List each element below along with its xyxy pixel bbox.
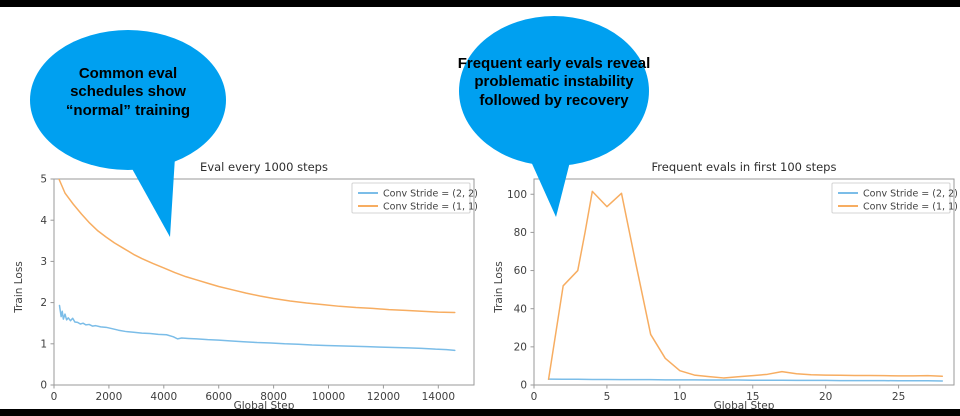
plot-left-xtick: 0 [51,391,58,403]
plot-left-legend[interactable]: Conv Stride = (2, 2)Conv Stride = (1, 1) [352,183,478,213]
plot-left-xtick: 8000 [260,391,287,403]
plot-left-ytick: 2 [40,297,47,309]
plot-right-xtick: 5 [604,391,611,403]
plot-right-xtick: 10 [673,391,686,403]
plot-right-ytick: 0 [520,380,527,392]
plot-right-ytick: 100 [507,189,527,201]
chart-panel-right: Frequent evals in first 100 steps Train … [488,157,960,415]
callout-text-right: Frequent early evals reveal problematic … [452,55,656,110]
plot-left-xtick: 10000 [312,391,345,403]
plot-left-xtick: 6000 [205,391,232,403]
plot-left-xtick: 14000 [422,391,455,403]
plot-left-ytick: 3 [40,256,47,268]
plot-right-ytick: 60 [514,265,527,277]
y-axis-label-right: Train Loss [493,261,505,314]
plot-right-xtick: 20 [819,391,832,403]
plot-right-xtick: 0 [531,391,538,403]
line-chart-eval-every-1000-steps[interactable]: Eval every 1000 steps Train Loss Global … [8,157,480,415]
x-axis-label-right: Global Step [714,400,775,412]
plot-left-xtick: 12000 [367,391,400,403]
callout-text-left: Common eval schedules show “normal” trai… [42,65,214,120]
legend-label-0: Conv Stride = (2, 2) [863,188,958,199]
plot-right-ytick: 40 [514,303,527,315]
screenshot-root: Eval every 1000 steps Train Loss Global … [0,0,960,416]
y-axis-label-left: Train Loss [13,261,25,314]
legend-label-1: Conv Stride = (1, 1) [863,201,958,212]
plot-left-xtick: 4000 [150,391,177,403]
plot-area-right: 0510152025020406080100Conv Stride = (2, … [507,179,958,403]
chart-panel-left: Eval every 1000 steps Train Loss Global … [8,157,480,415]
figure-area: Eval every 1000 steps Train Loss Global … [0,7,960,416]
plot-right-xtick: 15 [746,391,759,403]
plot-right-ytick: 80 [514,227,527,239]
plot-left-ytick: 5 [40,174,47,186]
legend-label-1: Conv Stride = (1, 1) [383,201,478,212]
plot-right-xtick: 25 [892,391,905,403]
plot-left-ytick: 4 [40,215,47,227]
plot-area-left: 02000400060008000100001200014000012345Co… [40,174,478,403]
plot-right-ytick: 20 [514,341,527,353]
plot-left-xtick: 2000 [96,391,123,403]
chart-title-left: Eval every 1000 steps [200,160,328,174]
plot-right-legend[interactable]: Conv Stride = (2, 2)Conv Stride = (1, 1) [832,183,958,213]
line-chart-frequent-evals-first-100-steps[interactable]: Frequent evals in first 100 steps Train … [488,157,960,415]
plot-left-ytick: 1 [40,338,47,350]
chart-title-right: Frequent evals in first 100 steps [652,160,837,174]
series-line-1 [549,191,943,379]
series-line-0 [549,379,943,381]
series-line-0 [59,305,454,350]
legend-label-0: Conv Stride = (2, 2) [383,188,478,199]
plot-left-ytick: 0 [40,380,47,392]
